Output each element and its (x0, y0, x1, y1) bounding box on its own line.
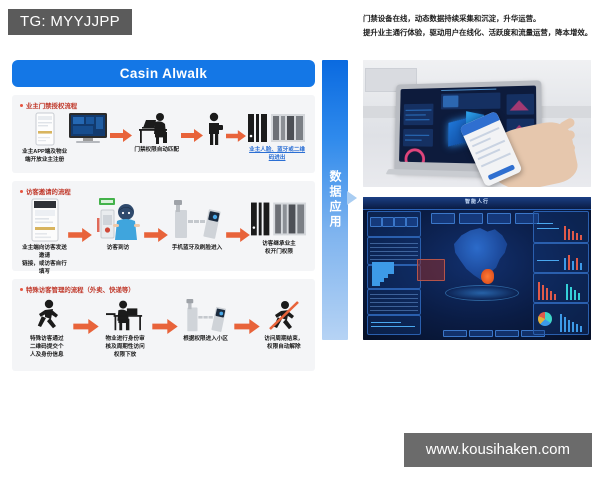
data-application-label: 数据应用 (329, 170, 341, 230)
flow-step-label: 业主APP端及物业 端开放业主注册 (22, 148, 67, 164)
flow-title: 业主门禁授权流程 (20, 101, 309, 110)
product-banner: Casin Alwalk (12, 60, 315, 87)
flow-step-label: 根据权限进入小区 (183, 335, 228, 343)
intro-text: 门禁设备在线，动态数据持续采集和沉淀，升华运营。 提升业主通行体验，驱动用户在线… (363, 12, 595, 39)
laptop-dashboard-photo (363, 60, 591, 187)
flow-title: 特殊访客管理的流程（外卖、快递等） (20, 285, 309, 294)
bullet-icon (20, 288, 23, 291)
dashboard-title: 智能人行 (465, 198, 489, 205)
flow-title-label: 访客邀请的流程 (26, 187, 71, 196)
arrow-right-icon (68, 228, 92, 247)
flow-step: 手机蓝牙及刷脸进入 (169, 198, 225, 252)
slide-canvas: Casin Alwalk 业主门禁授权流程 (0, 48, 600, 393)
flow-step: 物业进行身份审 核及周期性访问 权限下放 (100, 299, 151, 359)
flow-steps: 业主端向访客发送邀请 链接，或访客自行填写 (20, 198, 309, 276)
photos-column: 智能人行 (363, 60, 591, 340)
flow-step: 特殊访客通过 二维码提交个 人及身份信息 (22, 299, 72, 359)
running-person-icon (32, 299, 62, 333)
flow-card-special-visitor: 特殊访客管理的流程（外卖、快递等） 特殊访客通过 二维码 (12, 279, 315, 371)
desktop-monitor-icon (67, 112, 109, 146)
data-application-band: 数据应用 (322, 60, 348, 340)
access-gate-icon (251, 198, 307, 238)
turnstile-icon (179, 299, 233, 333)
flow-step: 业主APP端及物业 端开放业主注册 (22, 112, 67, 164)
invite-phone-icon (31, 198, 59, 242)
visitor-person-icon (93, 198, 143, 242)
bigscreen-dashboard-photo: 智能人行 (363, 197, 591, 340)
arrow-right-icon (144, 228, 168, 247)
flow-steps: 业主APP端及物业 端开放业主注册 (20, 112, 309, 164)
running-person-crossed-icon (268, 299, 300, 333)
arrow-right-icon (73, 319, 99, 339)
arrow-right-icon (110, 129, 132, 147)
alert-panel (417, 259, 445, 281)
flow-title-label: 特殊访客管理的流程（外卖、快递等） (26, 285, 135, 294)
staff-at-desk-icon (106, 299, 144, 333)
turnstile-icon (169, 198, 225, 242)
person-at-desk-icon (137, 112, 177, 144)
band-arrow-icon (347, 191, 357, 205)
flow-step-label: 访问周期结束， 权限自动解除 (264, 335, 303, 351)
bullet-icon (20, 104, 23, 107)
tg-watermark-badge: TG: MYYJJPP (8, 9, 132, 35)
flow-step (67, 112, 109, 148)
flow-step: 业主人脸、蓝牙或二维码进出 (247, 112, 307, 162)
flow-card-visitor-invitation: 访客邀请的流程 (12, 181, 315, 271)
flow-step-label: 门禁权限自动匹配 (134, 146, 179, 154)
access-gate-icon (248, 112, 306, 144)
flow-step: 业主端向访客发送邀请 链接，或访客自行填写 (22, 198, 67, 276)
intro-line-2: 提升业主通行体验，驱动用户在线化、活跃度和流量运营，降本增效。 (363, 26, 595, 40)
flow-steps: 特殊访客通过 二维码提交个 人及身份信息 (20, 299, 309, 359)
flow-step: 访客到访 (93, 198, 143, 252)
phone-app-icon (35, 112, 55, 146)
flow-step (204, 112, 225, 147)
flow-step: 访问周期结束， 权限自动解除 (261, 299, 307, 351)
arrow-right-icon (234, 319, 260, 339)
site-watermark: www.kousihaken.com (404, 433, 592, 467)
flow-step: 根据权限进入小区 (179, 299, 233, 343)
flow-step-label: 特殊访客通过 二维码提交个 人及身份信息 (30, 335, 64, 359)
flow-step-label: 业主人脸、蓝牙或二维码进出 (247, 146, 307, 162)
arrow-right-icon (226, 228, 250, 247)
flow-step: 门禁权限自动匹配 (133, 112, 180, 154)
map-hotspot (481, 269, 494, 284)
flow-step-label: 访客到访 (107, 244, 129, 252)
arrow-right-icon (181, 129, 203, 147)
flow-title: 访客邀请的流程 (20, 187, 309, 196)
flow-step: 访客继承业主 权开门权限 (251, 198, 307, 256)
map-base-ring (445, 285, 519, 301)
flow-step-label: 访客继承业主 权开门权限 (262, 240, 296, 256)
bullet-icon (20, 190, 23, 193)
arrow-right-icon (152, 319, 178, 339)
flow-step-label: 手机蓝牙及刷脸进入 (172, 244, 222, 252)
product-banner-label: Casin Alwalk (120, 66, 208, 81)
arrow-right-icon (226, 129, 246, 147)
flow-step-label: 业主端向访客发送邀请 链接，或访客自行填写 (22, 244, 67, 276)
intro-line-1: 门禁设备在线，动态数据持续采集和沉淀，升华运营。 (363, 12, 595, 26)
flow-step-label: 物业进行身份审 核及周期性访问 权限下放 (106, 335, 145, 359)
standing-person-icon (206, 112, 224, 145)
flow-title-label: 业主门禁授权流程 (26, 101, 77, 110)
flow-card-owner-authorization: 业主门禁授权流程 (12, 95, 315, 173)
flows-column: Casin Alwalk 业主门禁授权流程 (12, 60, 315, 371)
